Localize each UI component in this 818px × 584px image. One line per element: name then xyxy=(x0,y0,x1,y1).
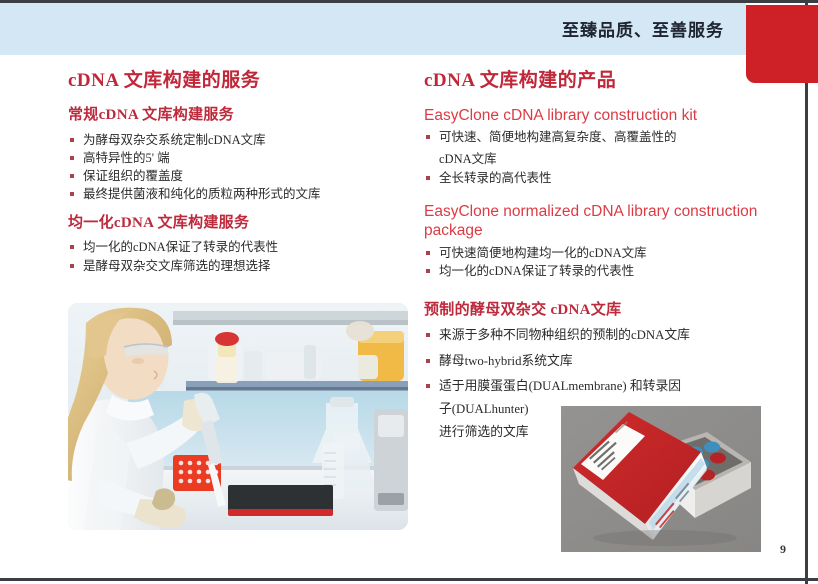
right-column: cDNA 文库构建的产品 EasyClone cDNA library cons… xyxy=(424,70,796,449)
list-item-line1: 适于用膜蛋蛋白(DUALmembrane) 和转录因 xyxy=(439,379,681,393)
list-item: 全长转录的高代表性 xyxy=(424,170,796,187)
page-number: 9 xyxy=(780,542,786,557)
list-item-line1: 可快速、简便地构建高复杂度、高覆盖性的 xyxy=(439,130,677,144)
bullet-list-easyclone-kit: 可快速、简便地构建高复杂度、高覆盖性的 cDNA文库 全长转录的高代表性 xyxy=(424,129,796,187)
section-heading-easyclone-normalized: EasyClone normalized cDNA library constr… xyxy=(424,202,796,241)
lab-scientist-photo xyxy=(68,303,408,530)
list-item: 可快速、简便地构建高复杂度、高覆盖性的 cDNA文库 xyxy=(424,129,796,169)
slide-canvas: 至臻品质、至善服务 cDNA 文库构建的服务 常规cDNA 文库构建服务 为酵母… xyxy=(0,0,818,584)
list-item: 酵母two-hybrid系统文库 xyxy=(424,353,796,371)
list-item: 保证组织的覆盖度 xyxy=(68,168,418,185)
list-item: 来源于多种不同物种组织的预制的cDNA文库 xyxy=(424,327,796,345)
left-column: cDNA 文库构建的服务 常规cDNA 文库构建服务 为酵母双杂交系统定制cDN… xyxy=(68,70,418,276)
list-item-line2: cDNA文库 xyxy=(439,151,796,168)
header-band: 至臻品质、至善服务 xyxy=(0,3,746,55)
lab-photo-graphic xyxy=(68,303,408,530)
spacer xyxy=(424,188,796,202)
left-column-title: cDNA 文库构建的服务 xyxy=(68,70,418,93)
bullet-list-easyclone-normalized: 可快速简便地构建均一化的cDNA文库 均一化的cDNA保证了转录的代表性 xyxy=(424,245,796,281)
bullet-list-standard-cdna: 为酵母双杂交系统定制cDNA文库 高特异性的5' 端 保证组织的覆盖度 最终提供… xyxy=(68,132,418,204)
list-item: 是酵母双杂交文库筛选的理想选择 xyxy=(68,258,418,275)
list-item: 高特异性的5' 端 xyxy=(68,150,418,167)
list-item: 最终提供菌液和纯化的质粒两种形式的文库 xyxy=(68,186,418,203)
list-item: 均一化的cDNA保证了转录的代表性 xyxy=(424,263,796,280)
header-title: 至臻品质、至善服务 xyxy=(562,16,724,41)
slide-border-bottom xyxy=(0,578,818,581)
spacer xyxy=(68,205,418,214)
section-heading-standard-cdna: 常规cDNA 文库构建服务 xyxy=(68,106,418,125)
product-kit-box-photo xyxy=(561,406,761,552)
list-item: 均一化的cDNA保证了转录的代表性 xyxy=(68,239,418,256)
list-item: 为酵母双杂交系统定制cDNA文库 xyxy=(68,132,418,149)
spacer xyxy=(424,281,796,301)
bullet-list-normalized-cdna: 均一化的cDNA保证了转录的代表性 是酵母双杂交文库筛选的理想选择 xyxy=(68,239,418,275)
right-column-title: cDNA 文库构建的产品 xyxy=(424,70,796,93)
product-photo-graphic xyxy=(561,406,761,552)
section-heading-premade-y2h: 预制的酵母双杂交 cDNA文库 xyxy=(424,301,796,320)
slide-border-right xyxy=(805,0,808,584)
section-heading-easyclone-kit: EasyClone cDNA library construction kit xyxy=(424,106,796,125)
section-heading-normalized-cdna: 均一化cDNA 文库构建服务 xyxy=(68,214,418,233)
list-item: 可快速简便地构建均一化的cDNA文库 xyxy=(424,245,796,262)
